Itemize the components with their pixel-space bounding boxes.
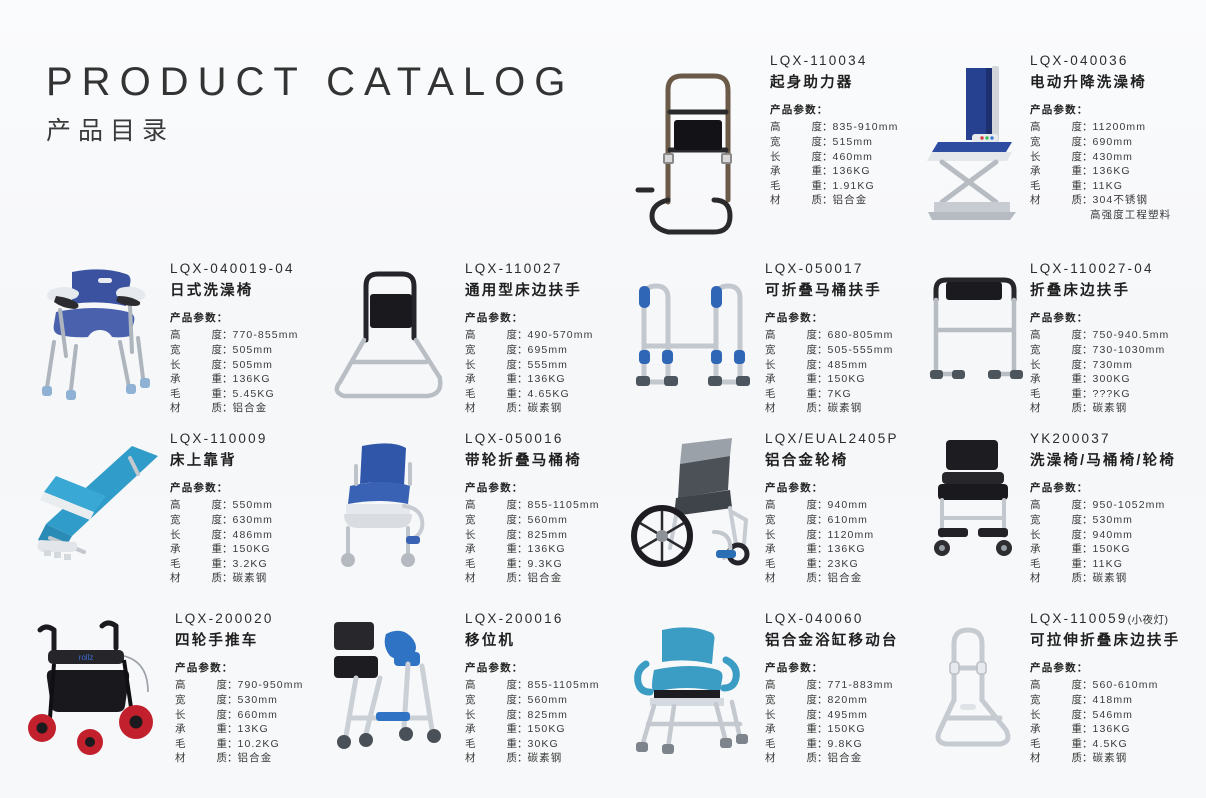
spec-list: 高度：560-610mm 宽度：418mm 长度：546mm 承重：136KG … — [1030, 678, 1205, 766]
spec-row: 长度：546mm — [1030, 708, 1205, 723]
spec-title: 产品参数： — [765, 313, 910, 325]
product-info: LQX-040060 铝合金浴缸移动台 产品参数： 高度：771-883mm 宽… — [765, 608, 910, 766]
product-card[interactable]: LQX-040060 铝合金浴缸移动台 产品参数： 高度：771-883mm 宽… — [620, 608, 910, 768]
spec-title: 产品参数： — [765, 483, 910, 495]
product-image-wheelchair — [620, 428, 765, 578]
spec-row: 承重：136KG — [465, 372, 610, 387]
spec-row: 长度：486mm — [170, 528, 310, 543]
product-sku: LQX-040019-04 — [170, 262, 310, 277]
spec-title: 产品参数： — [1030, 663, 1205, 675]
product-name: 四轮手推车 — [175, 634, 310, 650]
spec-row: 毛重：11KG — [1030, 557, 1205, 572]
spec-title: 产品参数： — [465, 663, 610, 675]
spec-row: 长度：1120mm — [765, 528, 910, 543]
product-image-toilet-rail — [620, 258, 765, 408]
spec-row: 宽度：610mm — [765, 513, 910, 528]
blue-shower-chair-icon — [20, 258, 170, 408]
product-card[interactable]: LQX-110027-04 折叠床边扶手 产品参数： 高度：750-940.5m… — [920, 258, 1205, 408]
spec-row: 高度：550mm — [170, 498, 310, 513]
spec-row: 长度：940mm — [1030, 528, 1205, 543]
product-cell-10: rollz LQX-200020 四轮手推车 产品参数： — [20, 608, 310, 768]
product-card[interactable]: LQX-110034 起身助力器 产品参数： 高度：835-910mm 宽度：5… — [630, 50, 900, 250]
spec-row: 材质：碳素钢 — [1030, 401, 1205, 416]
spec-row: 毛重：10.2KG — [175, 737, 310, 752]
multi-chair-icon — [920, 428, 1030, 578]
spec-row: 毛重：???KG — [1030, 387, 1205, 402]
spec-row: 宽度：515mm — [770, 135, 900, 150]
spec-row: 长度：825mm — [465, 708, 610, 723]
product-image-blue-shower-chair — [20, 258, 170, 408]
product-info: LQX-200016 移位机 产品参数： 高度：855-1105mm 宽度：56… — [465, 608, 610, 766]
spec-row: 毛重：11KG — [1030, 179, 1200, 194]
spec-title: 产品参数： — [1030, 105, 1200, 117]
product-info: YK200037 洗澡椅/马桶椅/轮椅 产品参数： 高度：950-1052mm … — [1030, 428, 1205, 586]
product-info: LQX/EUAL2405P 铝合金轮椅 产品参数： 高度：940mm 宽度：61… — [765, 428, 910, 586]
spec-row: 材质：铝合金 — [770, 193, 900, 208]
product-image-transfer-lift — [320, 608, 465, 768]
spec-title: 产品参数： — [1030, 483, 1205, 495]
spec-row: 宽度：695mm — [465, 343, 610, 358]
spec-row: 高度：940mm — [765, 498, 910, 513]
product-name: 日式洗澡椅 — [170, 284, 310, 300]
spec-row: 承重：136KG — [170, 372, 310, 387]
spec-extra: 高强度工程塑料 — [1030, 208, 1200, 223]
product-name: 可折叠马桶扶手 — [765, 284, 910, 300]
product-image-bed-rail-folding — [920, 258, 1030, 408]
product-image-bath-transfer-bench — [620, 608, 765, 768]
product-image-rollator: rollz — [20, 608, 175, 768]
product-name: 移位机 — [465, 634, 610, 650]
spec-list: 高度：771-883mm 宽度：820mm 长度：495mm 承重：150KG … — [765, 678, 910, 766]
product-name: 通用型床边扶手 — [465, 284, 610, 300]
spec-row: 宽度：418mm — [1030, 693, 1205, 708]
spec-row: 承重：150KG — [170, 542, 310, 557]
product-name: 带轮折叠马桶椅 — [465, 454, 610, 470]
spec-title: 产品参数： — [1030, 313, 1205, 325]
product-info: LQX-110059(小夜灯) 可拉伸折叠床边扶手 产品参数： 高度：560-6… — [1030, 608, 1205, 766]
spec-row: 承重：136KG — [770, 164, 900, 179]
spec-row: 高度：855-1105mm — [465, 498, 610, 513]
spec-row: 宽度：730-1030mm — [1030, 343, 1205, 358]
spec-row: 材质：碳素钢 — [465, 401, 610, 416]
product-cell-0: LQX-110034 起身助力器 产品参数： 高度：835-910mm 宽度：5… — [630, 50, 900, 250]
spec-list: 高度：750-940.5mm 宽度：730-1030mm 长度：730mm 承重… — [1030, 328, 1205, 416]
spec-row: 材质：碳素钢 — [465, 751, 610, 766]
spec-row: 毛重：5.45KG — [170, 387, 310, 402]
product-cell-12: LQX-040060 铝合金浴缸移动台 产品参数： 高度：771-883mm 宽… — [620, 608, 910, 768]
spec-row: 宽度：560mm — [465, 693, 610, 708]
spec-row: 高度：855-1105mm — [465, 678, 610, 693]
spec-row: 承重：150KG — [765, 372, 910, 387]
product-cell-9: YK200037 洗澡椅/马桶椅/轮椅 产品参数： 高度：950-1052mm … — [920, 428, 1205, 578]
spec-list: 高度：11200mm 宽度：690mm 长度：430mm 承重：136KG 毛重… — [1030, 120, 1200, 222]
spec-row: 毛重：7KG — [765, 387, 910, 402]
spec-row: 毛重：23KG — [765, 557, 910, 572]
spec-row: 材质：铝合金 — [175, 751, 310, 766]
bath-transfer-bench-icon — [620, 608, 765, 768]
spec-list: 高度：940mm 宽度：610mm 长度：1120mm 承重：136KG 毛重：… — [765, 498, 910, 586]
product-cell-4: LQX-050017 可折叠马桶扶手 产品参数： 高度：680-805mm 宽度… — [620, 258, 910, 408]
product-cell-7: LQX-050016 带轮折叠马桶椅 产品参数： 高度：855-1105mm 宽… — [320, 428, 610, 578]
toilet-rail-icon — [620, 258, 765, 408]
product-name: 铝合金浴缸移动台 — [765, 634, 910, 650]
product-card[interactable]: LQX/EUAL2405P 铝合金轮椅 产品参数： 高度：940mm 宽度：61… — [620, 428, 910, 578]
spec-row: 长度：730mm — [1030, 358, 1205, 373]
product-card[interactable]: LQX-040036 电动升降洗澡椅 产品参数： 高度：11200mm 宽度：6… — [920, 50, 1200, 250]
bed-rail-folding-icon — [920, 258, 1030, 408]
product-sku: LQX-110027-04 — [1030, 262, 1205, 277]
commode-wheels-icon — [320, 428, 465, 578]
product-sku: LQX/EUAL2405P — [765, 432, 910, 447]
spec-row: 长度：825mm — [465, 528, 610, 543]
product-sku: LQX-110034 — [770, 54, 900, 69]
product-image-lift-bath-chair — [920, 50, 1030, 240]
spec-row: 长度：555mm — [465, 358, 610, 373]
product-card[interactable]: LQX-040019-04 日式洗澡椅 产品参数： 高度：770-855mm 宽… — [20, 258, 310, 408]
product-image-commode-wheels — [320, 428, 465, 578]
spec-row: 宽度：560mm — [465, 513, 610, 528]
spec-row: 长度：460mm — [770, 150, 900, 165]
product-name: 折叠床边扶手 — [1030, 284, 1205, 300]
spec-title: 产品参数： — [175, 663, 310, 675]
product-cell-11: LQX-200016 移位机 产品参数： 高度：855-1105mm 宽度：56… — [320, 608, 610, 768]
spec-list: 高度：770-855mm 宽度：505mm 长度：505mm 承重：136KG … — [170, 328, 310, 416]
spec-row: 高度：771-883mm — [765, 678, 910, 693]
spec-row: 材质：铝合金 — [465, 571, 610, 586]
spec-row: 高度：770-855mm — [170, 328, 310, 343]
spec-row: 宽度：630mm — [170, 513, 310, 528]
product-cell-2: LQX-040019-04 日式洗澡椅 产品参数： 高度：770-855mm 宽… — [20, 258, 310, 408]
product-info: LQX-040036 电动升降洗澡椅 产品参数： 高度：11200mm 宽度：6… — [1030, 50, 1200, 222]
product-sku: LQX-110027 — [465, 262, 610, 277]
product-sku: LQX-110059(小夜灯) — [1030, 612, 1205, 627]
spec-list: 高度：680-805mm 宽度：505-555mm 长度：485mm 承重：15… — [765, 328, 910, 416]
product-grid: LQX-110034 起身助力器 产品参数： 高度：835-910mm 宽度：5… — [0, 0, 1206, 798]
product-cell-8: LQX/EUAL2405P 铝合金轮椅 产品参数： 高度：940mm 宽度：61… — [620, 428, 910, 578]
spec-row: 高度：490-570mm — [465, 328, 610, 343]
lift-bath-chair-icon — [920, 50, 1030, 240]
spec-title: 产品参数： — [465, 483, 610, 495]
product-card[interactable]: LQX-200016 移位机 产品参数： 高度：855-1105mm 宽度：56… — [320, 608, 610, 768]
product-cell-1: LQX-040036 电动升降洗澡椅 产品参数： 高度：11200mm 宽度：6… — [920, 50, 1200, 250]
spec-row: 承重：13KG — [175, 722, 310, 737]
transfer-lift-icon — [320, 608, 465, 768]
wheelchair-icon — [620, 428, 765, 578]
product-name: 电动升降洗澡椅 — [1030, 76, 1200, 92]
product-image-bed-rail-universal — [320, 258, 465, 408]
spec-row: 承重：150KG — [465, 722, 610, 737]
product-sku: LQX-040060 — [765, 612, 910, 627]
spec-title: 产品参数： — [465, 313, 610, 325]
product-card[interactable]: LQX-050016 带轮折叠马桶椅 产品参数： 高度：855-1105mm 宽… — [320, 428, 610, 578]
spec-title: 产品参数： — [170, 483, 310, 495]
product-sku: LQX-200020 — [175, 612, 310, 627]
spec-list: 高度：835-910mm 宽度：515mm 长度：460mm 承重：136KG … — [770, 120, 900, 208]
spec-row: 高度：835-910mm — [770, 120, 900, 135]
spec-row: 材质：碳素钢 — [170, 571, 310, 586]
product-card[interactable]: LQX-050017 可折叠马桶扶手 产品参数： 高度：680-805mm 宽度… — [620, 258, 910, 408]
spec-list: 高度：855-1105mm 宽度：560mm 长度：825mm 承重：136KG… — [465, 498, 610, 586]
spec-row: 材质：碳素钢 — [1030, 751, 1205, 766]
product-sku: LQX-110009 — [170, 432, 310, 447]
spec-row: 毛重：3.2KG — [170, 557, 310, 572]
product-sku: LQX-050016 — [465, 432, 610, 447]
spec-row: 承重：136KG — [465, 542, 610, 557]
spec-row: 高度：680-805mm — [765, 328, 910, 343]
product-sku: YK200037 — [1030, 432, 1205, 447]
spec-row: 高度：950-1052mm — [1030, 498, 1205, 513]
product-info: LQX-110027 通用型床边扶手 产品参数： 高度：490-570mm 宽度… — [465, 258, 610, 416]
svg-text:rollz: rollz — [79, 653, 94, 662]
spec-row: 毛重：4.5KG — [1030, 737, 1205, 752]
spec-row: 承重：136KG — [1030, 722, 1205, 737]
spec-row: 高度：750-940.5mm — [1030, 328, 1205, 343]
spec-row: 材质：铝合金 — [765, 751, 910, 766]
spec-row: 材质：碳素钢 — [765, 401, 910, 416]
product-info: LQX-050016 带轮折叠马桶椅 产品参数： 高度：855-1105mm 宽… — [465, 428, 610, 586]
product-info: LQX-110009 床上靠背 产品参数： 高度：550mm 宽度：630mm … — [170, 428, 310, 586]
product-info: LQX-110034 起身助力器 产品参数： 高度：835-910mm 宽度：5… — [770, 50, 900, 208]
spec-row: 宽度：690mm — [1030, 135, 1200, 150]
product-sku: LQX-040036 — [1030, 54, 1200, 69]
spec-list: 高度：950-1052mm 宽度：530mm 长度：940mm 承重：150KG… — [1030, 498, 1205, 586]
spec-row: 宽度：505-555mm — [765, 343, 910, 358]
spec-row: 宽度：530mm — [1030, 513, 1205, 528]
spec-row: 毛重：4.65KG — [465, 387, 610, 402]
spec-row: 长度：505mm — [170, 358, 310, 373]
product-name: 起身助力器 — [770, 76, 900, 92]
product-name: 可拉伸折叠床边扶手 — [1030, 634, 1205, 650]
product-card[interactable]: LQX-110009 床上靠背 产品参数： 高度：550mm 宽度：630mm … — [20, 428, 310, 578]
product-name: 床上靠背 — [170, 454, 310, 470]
product-cell-5: LQX-110027-04 折叠床边扶手 产品参数： 高度：750-940.5m… — [920, 258, 1205, 408]
spec-row: 长度：495mm — [765, 708, 910, 723]
product-cell-13: LQX-110059(小夜灯) 可拉伸折叠床边扶手 产品参数： 高度：560-6… — [920, 608, 1205, 768]
bed-rail-nightlight-icon — [920, 608, 1030, 768]
spec-row: 长度：660mm — [175, 708, 310, 723]
product-cell-6: LQX-110009 床上靠背 产品参数： 高度：550mm 宽度：630mm … — [20, 428, 310, 578]
product-card[interactable]: LQX-110059(小夜灯) 可拉伸折叠床边扶手 产品参数： 高度：560-6… — [920, 608, 1205, 768]
product-info: LQX-200020 四轮手推车 产品参数： 高度：790-950mm 宽度：5… — [175, 608, 310, 766]
spec-title: 产品参数： — [770, 105, 900, 117]
spec-list: 高度：855-1105mm 宽度：560mm 长度：825mm 承重：150KG… — [465, 678, 610, 766]
bed-rail-universal-icon — [320, 258, 465, 408]
spec-row: 承重：300KG — [1030, 372, 1205, 387]
spec-row: 承重：150KG — [1030, 542, 1205, 557]
spec-row: 承重：150KG — [765, 722, 910, 737]
product-image-multi-chair — [920, 428, 1030, 578]
product-name: 洗澡椅/马桶椅/轮椅 — [1030, 454, 1205, 470]
spec-row: 材质：碳素钢 — [1030, 571, 1205, 586]
spec-row: 毛重：9.8KG — [765, 737, 910, 752]
product-cell-3: LQX-110027 通用型床边扶手 产品参数： 高度：490-570mm 宽度… — [320, 258, 610, 408]
product-card[interactable]: YK200037 洗澡椅/马桶椅/轮椅 产品参数： 高度：950-1052mm … — [920, 428, 1205, 578]
product-info: LQX-050017 可折叠马桶扶手 产品参数： 高度：680-805mm 宽度… — [765, 258, 910, 416]
product-name: 铝合金轮椅 — [765, 454, 910, 470]
spec-row: 高度：790-950mm — [175, 678, 310, 693]
product-image-stand-aid — [630, 50, 770, 240]
spec-row: 宽度：820mm — [765, 693, 910, 708]
product-sku: LQX-050017 — [765, 262, 910, 277]
spec-row: 承重：136KG — [1030, 164, 1200, 179]
spec-row: 长度：430mm — [1030, 150, 1200, 165]
spec-row: 材质：铝合金 — [765, 571, 910, 586]
spec-row: 材质：铝合金 — [170, 401, 310, 416]
spec-list: 高度：550mm 宽度：630mm 长度：486mm 承重：150KG 毛重：3… — [170, 498, 310, 586]
product-card[interactable]: LQX-110027 通用型床边扶手 产品参数： 高度：490-570mm 宽度… — [320, 258, 610, 408]
product-image-bed-backrest — [20, 428, 170, 578]
spec-row: 长度：485mm — [765, 358, 910, 373]
spec-row: 高度：11200mm — [1030, 120, 1200, 135]
spec-row: 毛重：30KG — [465, 737, 610, 752]
product-image-bed-rail-nightlight — [920, 608, 1030, 768]
rollator-icon: rollz — [20, 608, 175, 768]
spec-list: 高度：490-570mm 宽度：695mm 长度：555mm 承重：136KG … — [465, 328, 610, 416]
spec-row: 宽度：530mm — [175, 693, 310, 708]
spec-title: 产品参数： — [765, 663, 910, 675]
spec-row: 毛重：9.3KG — [465, 557, 610, 572]
stand-aid-icon — [630, 50, 770, 240]
spec-row: 毛重：1.91KG — [770, 179, 900, 194]
product-info: LQX-040019-04 日式洗澡椅 产品参数： 高度：770-855mm 宽… — [170, 258, 310, 416]
product-card[interactable]: rollz LQX-200020 四轮手推车 产品参数： — [20, 608, 310, 768]
spec-list: 高度：790-950mm 宽度：530mm 长度：660mm 承重：13KG 毛… — [175, 678, 310, 766]
spec-row: 承重：136KG — [765, 542, 910, 557]
product-sku: LQX-200016 — [465, 612, 610, 627]
spec-row: 宽度：505mm — [170, 343, 310, 358]
spec-title: 产品参数： — [170, 313, 310, 325]
bed-backrest-icon — [20, 428, 170, 578]
product-info: LQX-110027-04 折叠床边扶手 产品参数： 高度：750-940.5m… — [1030, 258, 1205, 416]
spec-row: 高度：560-610mm — [1030, 678, 1205, 693]
spec-row: 材质：304不锈钢 — [1030, 193, 1200, 208]
